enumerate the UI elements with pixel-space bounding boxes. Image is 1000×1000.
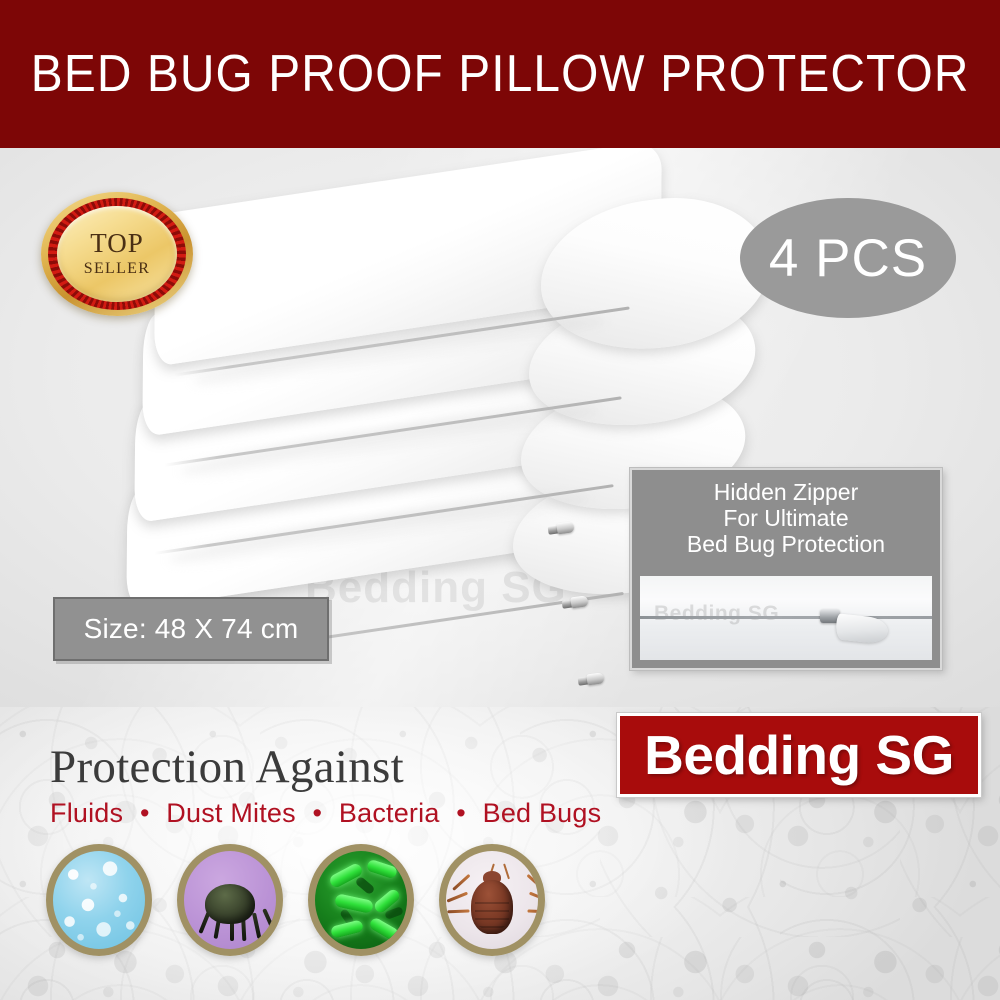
zipper-seam-icon bbox=[640, 616, 932, 619]
bacteria-rod-dark bbox=[354, 876, 375, 896]
zipper-pull-icon bbox=[561, 594, 589, 610]
quantity-badge-label: 4 PCS bbox=[769, 228, 927, 289]
hidden-zipper-caption-line3: Bed Bug Protection bbox=[640, 531, 932, 557]
bug-antenna bbox=[503, 863, 510, 879]
water-droplets-icon bbox=[46, 844, 152, 956]
protection-item-bacteria: Bacteria bbox=[339, 798, 440, 828]
bed-bug-icon bbox=[439, 844, 545, 956]
badge-line-top: TOP bbox=[90, 230, 144, 257]
protection-item-bed-bugs: Bed Bugs bbox=[483, 798, 602, 828]
protection-item-dust-mites: Dust Mites bbox=[166, 798, 296, 828]
badge-inner-face: TOP SELLER bbox=[57, 206, 177, 302]
bacteria-rod bbox=[330, 919, 364, 938]
quantity-badge: 4 PCS bbox=[740, 198, 956, 318]
bug-leg bbox=[529, 892, 545, 903]
bacteria-rod bbox=[366, 859, 398, 880]
bug-leg bbox=[447, 910, 469, 914]
bacteria-rod bbox=[368, 916, 400, 941]
bug-leg bbox=[527, 910, 545, 914]
hidden-zipper-caption: Hidden Zipper For Ultimate Bed Bug Prote… bbox=[632, 470, 940, 564]
protection-heading: Protection Against bbox=[50, 740, 404, 794]
zipper-photo-watermark: Bedding SG bbox=[654, 602, 779, 626]
protection-icon-row bbox=[46, 844, 545, 956]
bug-leg bbox=[452, 874, 470, 891]
protection-item-fluids: Fluids bbox=[50, 798, 123, 828]
hidden-zipper-caption-line1: Hidden Zipper bbox=[640, 479, 932, 505]
size-label: Size: 48 X 74 cm bbox=[53, 597, 329, 661]
top-seller-badge: TOP SELLER bbox=[41, 192, 193, 316]
brand-logo-text: Bedding SG bbox=[644, 723, 954, 787]
bug-leg bbox=[526, 874, 544, 891]
bacteria-icon bbox=[308, 844, 414, 956]
bug-leg bbox=[447, 892, 469, 903]
header-banner: BED BUG PROOF PILLOW PROTECTOR bbox=[0, 0, 1000, 148]
bullet-separator-icon: • bbox=[304, 798, 332, 828]
hidden-zipper-panel: Hidden Zipper For Ultimate Bed Bug Prote… bbox=[630, 468, 942, 670]
bug-body bbox=[471, 880, 513, 934]
protection-items-list: Fluids • Dust Mites • Bacteria • Bed Bug… bbox=[50, 798, 601, 829]
badge-line-seller: SELLER bbox=[84, 259, 150, 278]
size-label-text: Size: 48 X 74 cm bbox=[84, 613, 299, 645]
mite-leg bbox=[252, 913, 261, 939]
mite-leg bbox=[262, 908, 276, 933]
product-advertisement: BED BUG PROOF PILLOW PROTECTOR Be bbox=[0, 0, 1000, 1000]
hidden-zipper-caption-line2: For Ultimate bbox=[640, 505, 932, 531]
mite-body bbox=[205, 884, 255, 924]
bullet-separator-icon: • bbox=[131, 798, 159, 828]
hidden-zipper-photo: Bedding SG bbox=[640, 576, 932, 660]
dust-mite-icon bbox=[177, 844, 283, 956]
page-title: BED BUG PROOF PILLOW PROTECTOR bbox=[31, 48, 970, 100]
zipper-pull-icon bbox=[577, 671, 605, 687]
brand-logo: Bedding SG bbox=[617, 713, 981, 797]
bullet-separator-icon: • bbox=[447, 798, 475, 828]
